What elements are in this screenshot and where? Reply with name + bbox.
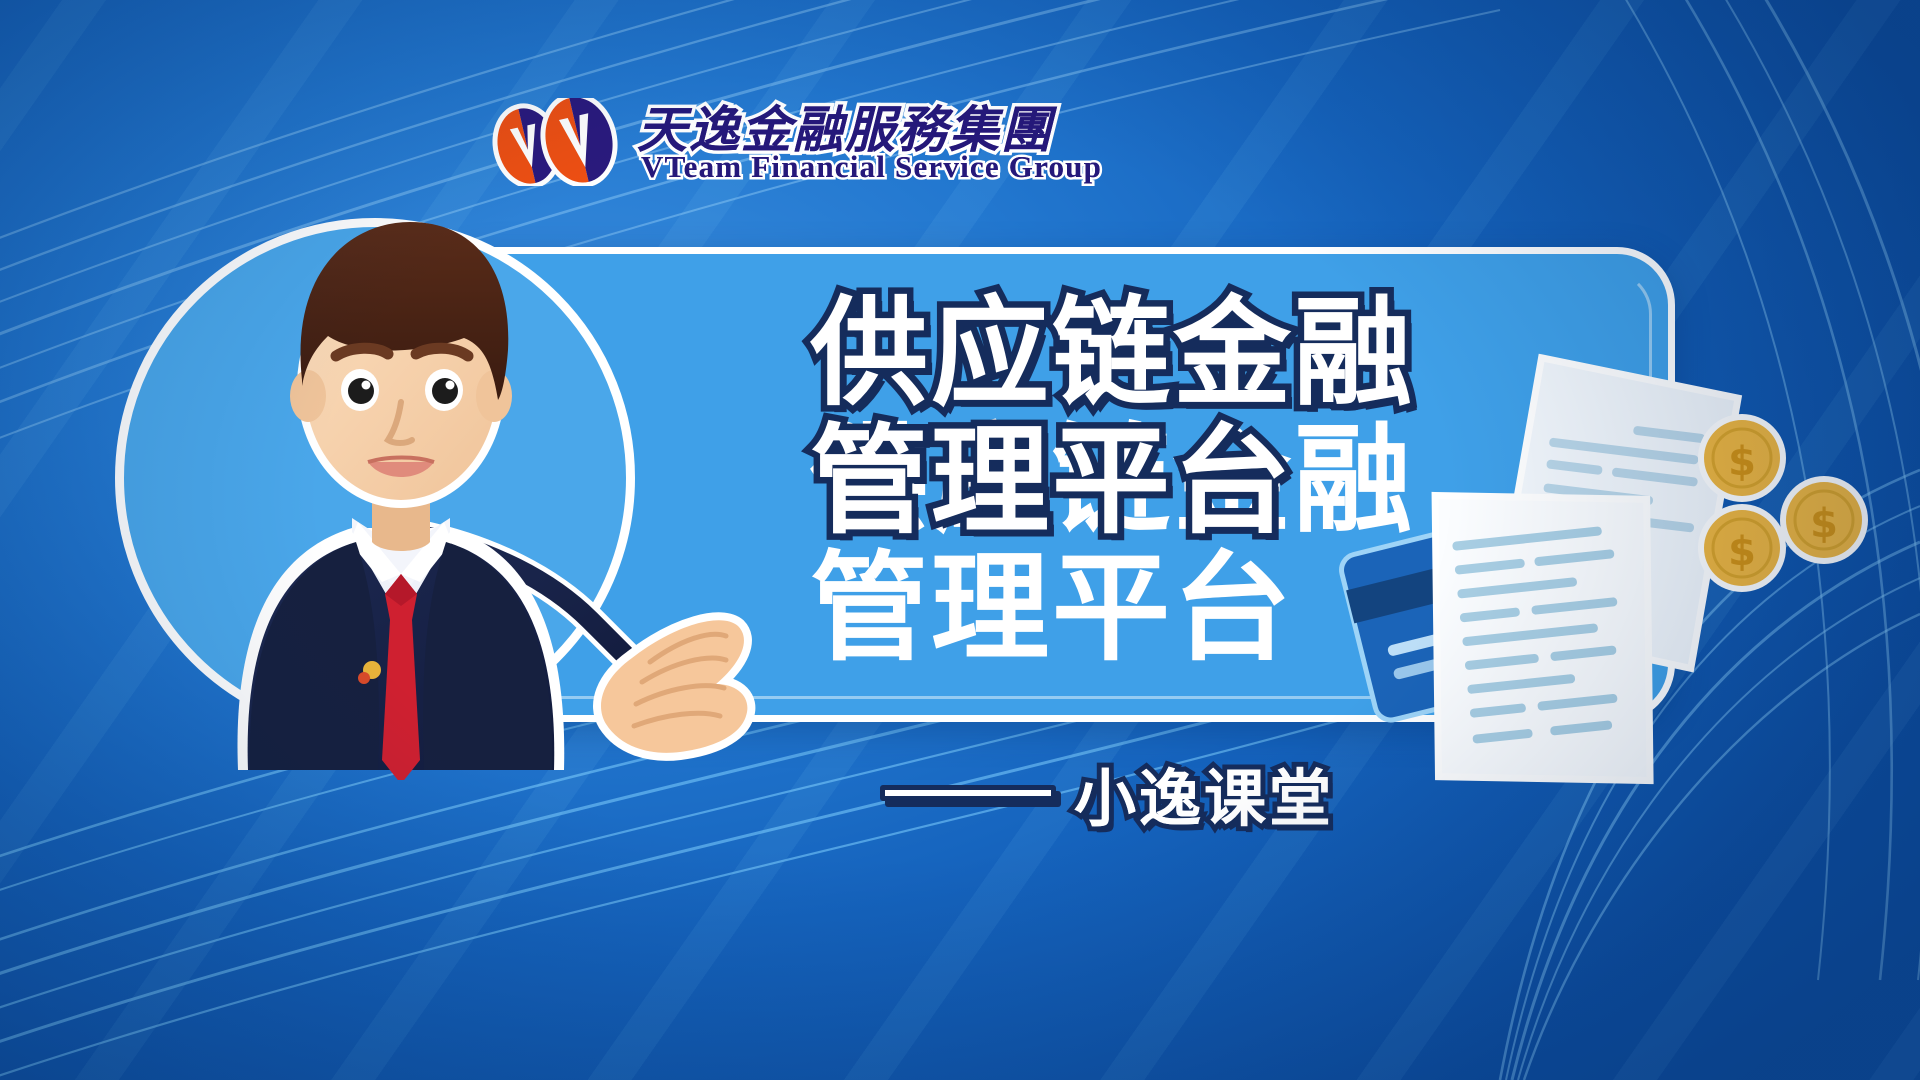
banner-stage: 天逸金融服務集團 天逸金融服務集團 VTeam Financial Servic…	[0, 0, 1920, 1080]
coin-icon: $	[1698, 504, 1786, 592]
hero-title-line2-outline: 管理平台	[810, 418, 1450, 545]
svg-text:$: $	[1810, 501, 1838, 547]
character-head	[290, 222, 512, 508]
coin-icon: $	[1780, 476, 1868, 564]
hero-subtitle-outline: 小逸课堂小逸课堂	[1074, 748, 1334, 838]
hero-title-block: 供应链金融 供应链金融 管理平台 管理平台	[810, 290, 1450, 546]
hero-title-line2: 管理平台	[810, 545, 1294, 672]
svg-text:$: $	[1728, 529, 1756, 575]
hero-title-line2-row: 管理平台 管理平台	[810, 418, 1450, 546]
coin-icon: $	[1698, 414, 1786, 502]
hero-subtitle: 小逸课堂	[1074, 748, 1334, 838]
hero-subtitle-row: 小逸课堂小逸课堂	[880, 748, 1334, 838]
hero-title-line1-outline: 供应链金融	[810, 290, 1450, 417]
hero-title-line1-row: 供应链金融 供应链金融	[810, 290, 1450, 418]
businessman-character	[120, 150, 820, 780]
subtitle-dash	[880, 785, 1056, 801]
svg-text:$: $	[1728, 439, 1756, 485]
